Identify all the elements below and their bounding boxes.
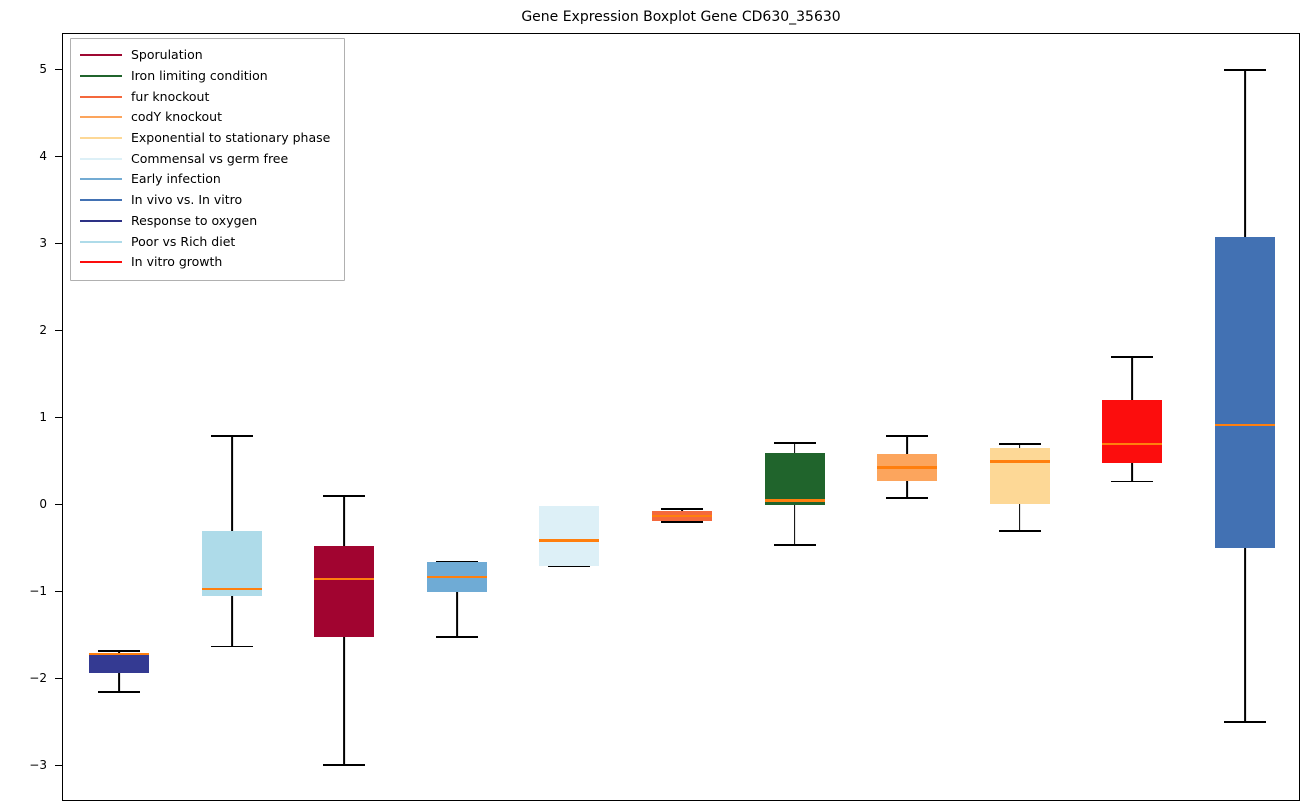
boxplot-box[interactable]	[851, 34, 964, 800]
median-line	[427, 576, 487, 578]
boxplot-box[interactable]	[401, 34, 514, 800]
cap-lower	[98, 691, 140, 693]
whisker-lower	[231, 596, 233, 646]
y-axis-tick-label: 5	[7, 63, 47, 75]
cap-upper	[211, 435, 253, 437]
legend-color-swatch	[80, 241, 122, 243]
y-axis-tick	[55, 156, 62, 157]
cap-upper	[661, 508, 703, 510]
box-rect	[89, 653, 149, 674]
legend-item[interactable]: Exponential to stationary phase	[78, 128, 337, 149]
page-title: Gene Expression Boxplot Gene CD630_35630	[62, 8, 1300, 26]
median-line	[990, 460, 1050, 462]
cap-upper	[1111, 356, 1153, 358]
boxplot-box[interactable]	[1188, 34, 1299, 800]
figure-canvas: Gene Expression Boxplot Gene CD630_35630…	[0, 0, 1309, 812]
legend-item[interactable]: Iron limiting condition	[78, 66, 337, 87]
cap-lower	[1224, 721, 1266, 723]
y-axis-tick-label: 3	[7, 237, 47, 249]
whisker-upper	[343, 495, 345, 545]
legend-item-label: Iron limiting condition	[131, 69, 268, 83]
cap-lower	[886, 497, 928, 499]
median-line	[539, 539, 599, 541]
cap-lower	[323, 764, 365, 766]
legend-item-label: Sporulation	[131, 48, 203, 62]
legend-item-label: Exponential to stationary phase	[131, 131, 330, 145]
median-line	[202, 588, 262, 590]
cap-upper	[323, 495, 365, 497]
legend-item-label: fur knockout	[131, 90, 209, 104]
legend-color-swatch	[80, 137, 122, 139]
cap-upper	[999, 443, 1041, 445]
legend-item-label: codY knockout	[131, 110, 222, 124]
cap-lower	[436, 636, 478, 638]
cap-lower	[211, 646, 253, 648]
legend: SporulationIron limiting conditionfur kn…	[70, 38, 345, 281]
legend-color-swatch	[80, 116, 122, 118]
median-line	[765, 499, 825, 501]
cap-lower	[774, 544, 816, 546]
whisker-upper	[1131, 356, 1133, 399]
y-axis-tick-label: 0	[7, 498, 47, 510]
y-axis-tick-label: −1	[7, 585, 47, 597]
legend-color-swatch	[80, 178, 122, 180]
legend-item[interactable]: codY knockout	[78, 107, 337, 128]
y-axis-tick	[55, 330, 62, 331]
whisker-upper	[231, 435, 233, 531]
legend-item-label: In vivo vs. In vitro	[131, 193, 242, 207]
legend-color-swatch	[80, 158, 122, 160]
legend-item[interactable]: Poor vs Rich diet	[78, 231, 337, 252]
box-rect	[314, 546, 374, 637]
cap-lower	[661, 521, 703, 523]
cap-upper	[1224, 69, 1266, 71]
y-axis-tick	[55, 243, 62, 244]
boxplot-box[interactable]	[738, 34, 851, 800]
legend-item[interactable]: Sporulation	[78, 45, 337, 66]
whisker-lower	[794, 505, 796, 544]
whisker-upper	[906, 435, 908, 453]
whisker-lower	[906, 481, 908, 497]
whisker-lower	[343, 637, 345, 764]
cap-upper	[886, 435, 928, 437]
cap-upper	[774, 442, 816, 444]
whisker-lower	[456, 592, 458, 636]
median-line	[1215, 424, 1275, 426]
median-line	[89, 653, 149, 655]
legend-item[interactable]: Early infection	[78, 169, 337, 190]
box-rect	[990, 448, 1050, 504]
legend-color-swatch	[80, 199, 122, 201]
legend-item-label: Poor vs Rich diet	[131, 235, 235, 249]
median-line	[652, 515, 712, 517]
y-axis-tick-label: −3	[7, 759, 47, 771]
box-rect	[1215, 237, 1275, 548]
cap-lower	[1111, 481, 1153, 483]
legend-item[interactable]: fur knockout	[78, 86, 337, 107]
legend-item-label: Response to oxygen	[131, 214, 257, 228]
box-rect	[1102, 400, 1162, 463]
median-line	[314, 578, 374, 580]
y-axis-tick-label: −2	[7, 672, 47, 684]
cap-upper	[98, 650, 140, 652]
legend-item-label: Commensal vs germ free	[131, 152, 288, 166]
legend-item[interactable]: In vitro growth	[78, 252, 337, 273]
cap-lower	[548, 566, 590, 568]
y-axis-tick	[55, 678, 62, 679]
box-rect	[202, 531, 262, 596]
whisker-lower	[1019, 504, 1021, 530]
whisker-lower	[118, 673, 120, 690]
y-axis-tick	[55, 765, 62, 766]
box-rect	[765, 453, 825, 505]
median-line	[1102, 443, 1162, 445]
boxplot-box[interactable]	[963, 34, 1076, 800]
y-axis-tick	[55, 504, 62, 505]
box-rect	[539, 506, 599, 566]
y-axis-tick	[55, 69, 62, 70]
legend-item[interactable]: Response to oxygen	[78, 211, 337, 232]
y-axis-tick-label: 1	[7, 411, 47, 423]
y-axis-tick-label: 4	[7, 150, 47, 162]
whisker-upper	[1244, 69, 1246, 238]
legend-color-swatch	[80, 96, 122, 98]
cap-lower	[999, 530, 1041, 532]
median-line	[877, 466, 937, 468]
legend-color-swatch	[80, 54, 122, 56]
legend-color-swatch	[80, 220, 122, 222]
legend-color-swatch	[80, 261, 122, 263]
legend-item-label: Early infection	[131, 172, 221, 186]
boxplot-box[interactable]	[1076, 34, 1189, 800]
legend-color-swatch	[80, 75, 122, 77]
whisker-lower	[1244, 548, 1246, 721]
legend-item[interactable]: In vivo vs. In vitro	[78, 190, 337, 211]
y-axis-tick-label: 2	[7, 324, 47, 336]
y-axis-tick	[55, 591, 62, 592]
whisker-lower	[1131, 463, 1133, 480]
y-axis-tick	[55, 417, 62, 418]
legend-item[interactable]: Commensal vs germ free	[78, 148, 337, 169]
legend-item-label: In vitro growth	[131, 255, 222, 269]
boxplot-box[interactable]	[513, 34, 626, 800]
boxplot-box[interactable]	[626, 34, 739, 800]
